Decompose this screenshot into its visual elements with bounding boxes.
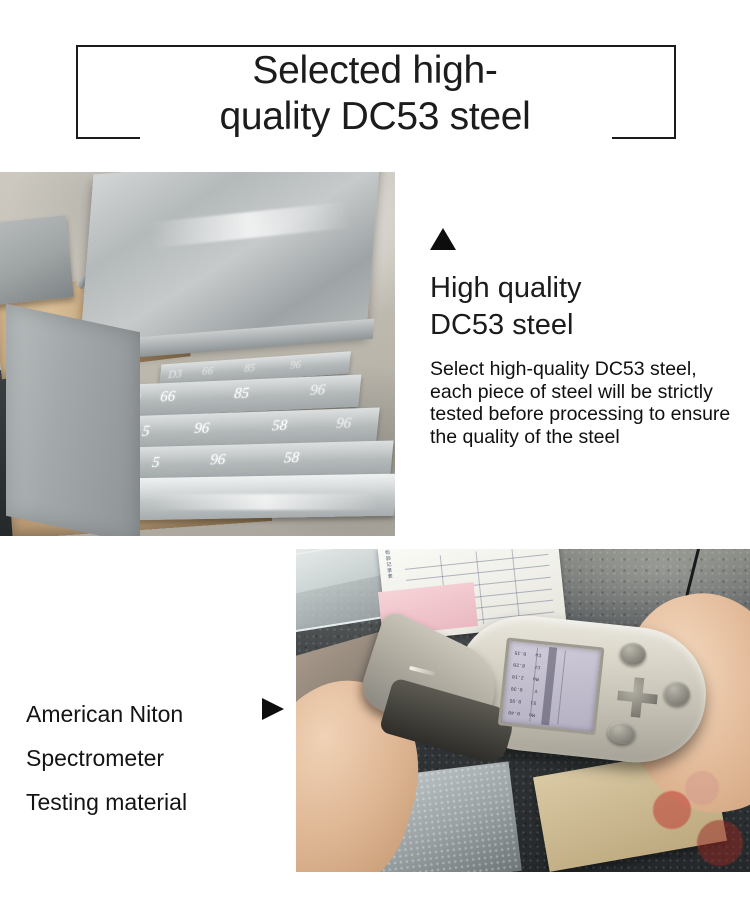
spectrometer-caption-text: American Niton Spectrometer Testing mate… (26, 692, 288, 824)
chalk-mark: 66 (159, 389, 176, 407)
chalk-mark: 5 (141, 423, 150, 440)
triangle-right-icon (262, 698, 284, 720)
spectrometer-caption: American Niton Spectrometer Testing mate… (26, 692, 288, 824)
page-title: Selected high- quality DC53 steel (0, 48, 750, 140)
red-debris (636, 766, 750, 872)
chalk-mark: 96 (309, 382, 326, 400)
chalk-mark: 58 (283, 450, 300, 467)
chalk-mark: 96 (193, 420, 210, 438)
chalk-mark: 58 (271, 418, 288, 436)
quality-body-text: Select high-quality DC53 steel, each pie… (430, 358, 742, 448)
chalk-mark: D3 (168, 368, 183, 381)
paper-heading-text: 检验记录表 (384, 549, 393, 579)
triangle-up-icon (430, 228, 456, 250)
chalk-mark: 5 (151, 455, 160, 472)
quality-panel: High quality DC53 steel Select high-qual… (430, 228, 742, 448)
chalk-mark: 85 (233, 385, 250, 403)
device-lcd-screen: Cu 0.15 Cr 8.20 Mo 2.10 V 0.30 Si 0.95 M… (498, 637, 605, 735)
steel-plates-photo: D3 66 85 96 D3 66 85 96 5 96 58 96 5 96 … (0, 172, 395, 536)
product-detail-page: Selected high- quality DC53 steel D3 66 … (0, 0, 750, 903)
bar-highlight (150, 494, 380, 510)
lcd-divider (541, 647, 557, 725)
chalk-mark: 66 (202, 365, 214, 378)
quality-heading: High quality DC53 steel (430, 270, 742, 344)
chalk-mark: 96 (289, 359, 301, 372)
chalk-mark: 96 (335, 415, 352, 433)
chalk-mark: 96 (209, 452, 226, 469)
spectrometer-photo: 检验记录表 Cu 0.15 (296, 549, 750, 872)
steel-plate-background (0, 215, 74, 307)
chalk-mark: 85 (243, 362, 255, 375)
